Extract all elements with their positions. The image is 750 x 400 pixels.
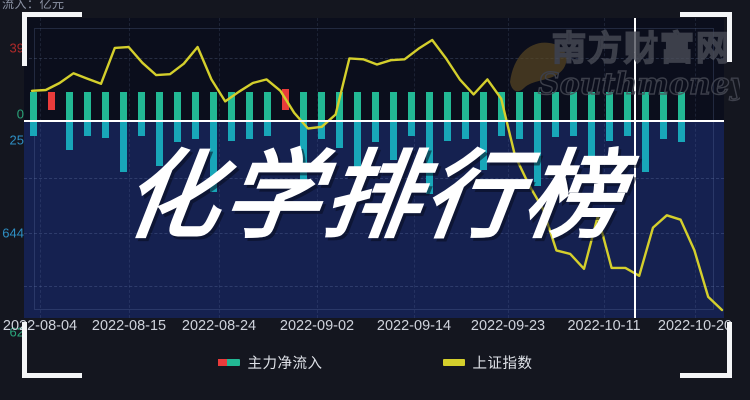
x-axis-label: 2022-10-11 bbox=[567, 318, 640, 334]
frame-bar bbox=[727, 12, 732, 62]
x-axis-label: 2022-10-20 bbox=[658, 318, 732, 334]
legend-item-main-net-inflow[interactable]: 主力净流入 bbox=[218, 352, 323, 373]
index-line-chart bbox=[24, 18, 724, 318]
x-axis-label: 2022-09-02 bbox=[280, 318, 354, 334]
x-axis-label: 2022-08-04 bbox=[3, 318, 77, 334]
index-line-path bbox=[32, 40, 722, 310]
y-axis-label: 25 bbox=[10, 133, 24, 148]
y-axis-label: 644 bbox=[2, 226, 24, 241]
legend-swatch-icon bbox=[218, 359, 240, 366]
legend-label: 上证指数 bbox=[473, 352, 533, 373]
header-strip: 流入：亿元 bbox=[0, 0, 750, 16]
x-axis-label: 2022-09-14 bbox=[377, 318, 451, 334]
y-axis-label: 39 bbox=[10, 41, 24, 56]
crosshair-horizontal bbox=[24, 120, 724, 122]
legend-label: 主力净流入 bbox=[248, 352, 323, 373]
crosshair-vertical bbox=[634, 18, 636, 318]
chart-plot-area bbox=[24, 18, 724, 318]
x-axis-labels: 2022-08-042022-08-152022-08-242022-09-02… bbox=[0, 318, 750, 344]
x-axis-label: 2022-08-24 bbox=[182, 318, 256, 334]
legend-item-shanghai-index[interactable]: 上证指数 bbox=[443, 352, 533, 373]
x-axis-label: 2022-09-23 bbox=[471, 318, 545, 334]
chart-screenshot-root: 流入：亿元 3902564462 2022-08-042022-08-15202… bbox=[0, 0, 750, 400]
chart-legend: 主力净流入 上证指数 bbox=[0, 350, 750, 374]
x-axis-label: 2022-08-15 bbox=[92, 318, 166, 334]
legend-swatch-icon bbox=[443, 359, 465, 366]
y-axis-label: 0 bbox=[17, 107, 24, 122]
header-cut-text: 流入：亿元 bbox=[2, 0, 65, 13]
